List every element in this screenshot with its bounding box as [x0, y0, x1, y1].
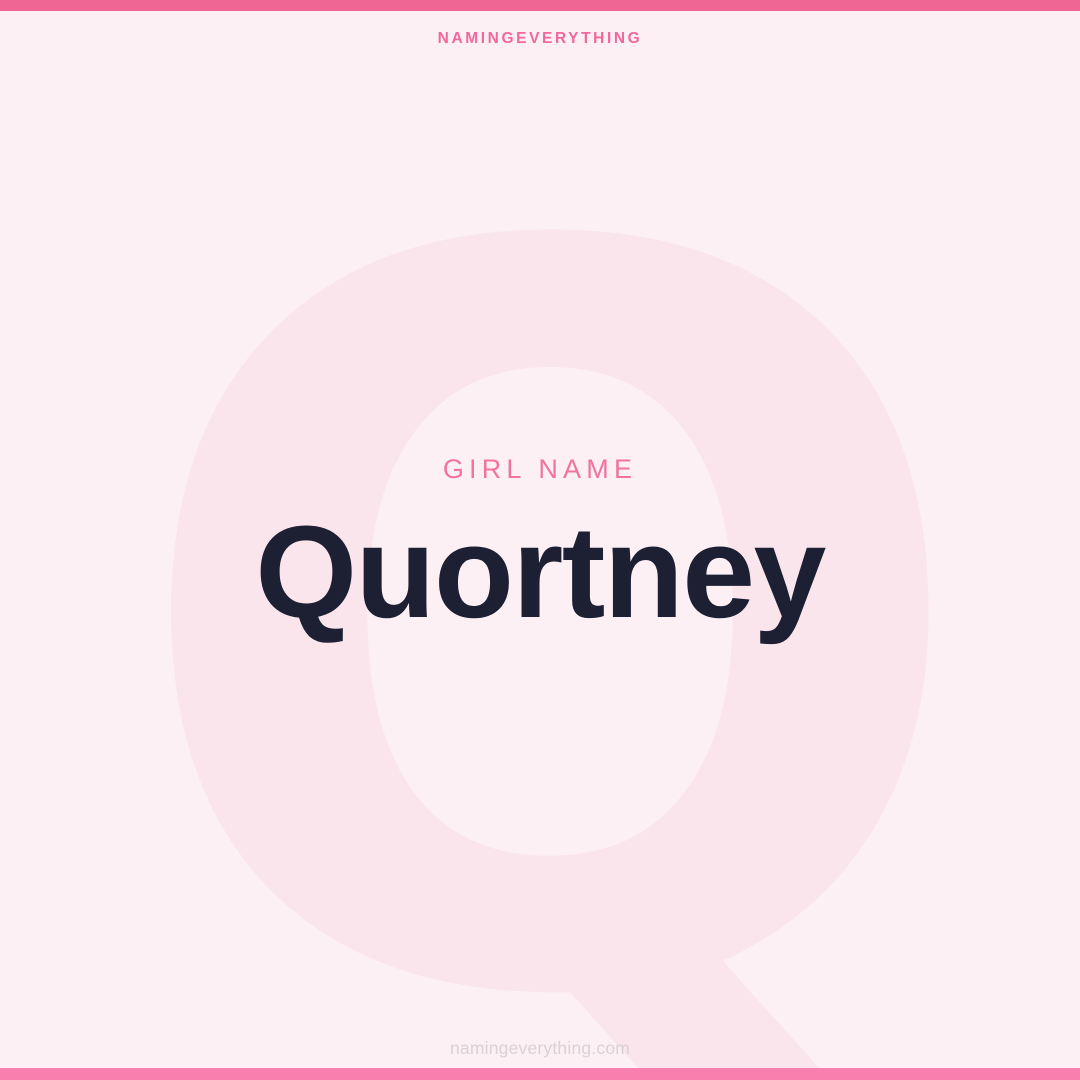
page-title: Quortney [255, 505, 824, 639]
top-accent-rule [0, 0, 1080, 11]
name-card: Q NAMINGEVERYTHING GIRL NAME Quortney na… [0, 0, 1080, 1080]
bottom-accent-rule [0, 1068, 1080, 1080]
name-category-label: GIRL NAME [443, 456, 637, 483]
site-url-label[interactable]: namingeverything.com [450, 1038, 630, 1059]
name-display: GIRL NAME Quortney [0, 7, 1080, 1080]
